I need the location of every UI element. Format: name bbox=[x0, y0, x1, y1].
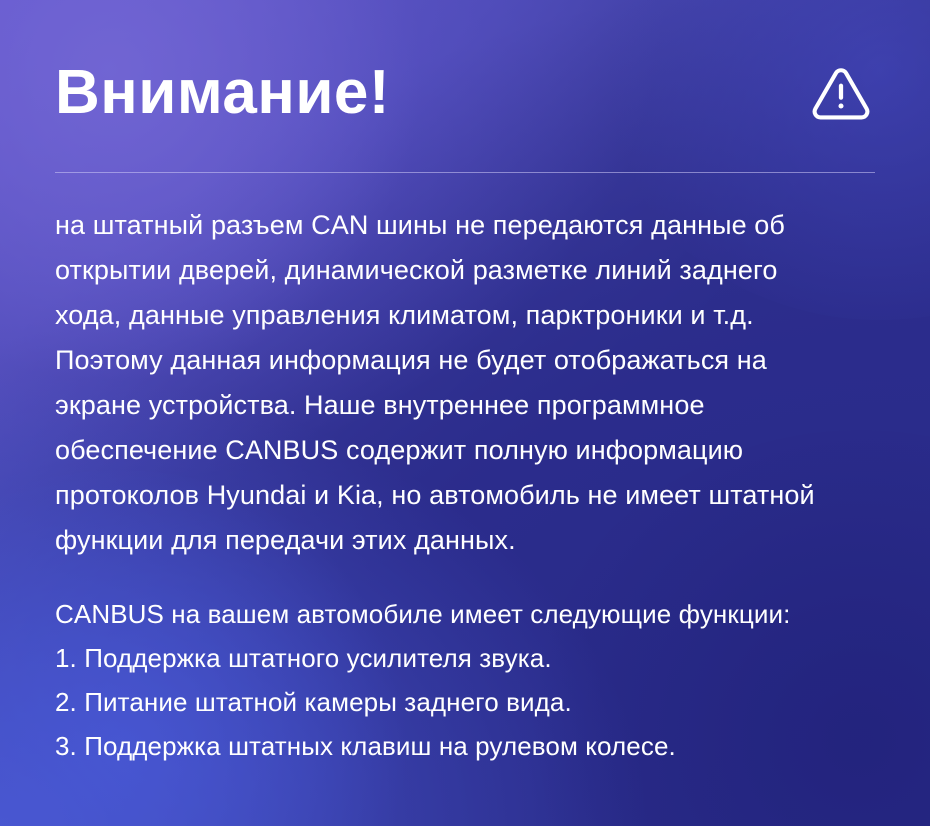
warning-banner: Внимание! на штатный разъем CAN шины не … bbox=[0, 0, 930, 826]
main-paragraph: на штатный разъем CAN шины не передаются… bbox=[55, 173, 875, 563]
paragraph-line: на штатный разъем CAN шины не передаются… bbox=[55, 203, 875, 248]
paragraph-line: открытии дверей, динамической разметке л… bbox=[55, 248, 875, 293]
features-section: CANBUS на вашем автомобиле имеет следующ… bbox=[55, 563, 875, 768]
page-title: Внимание! bbox=[55, 62, 390, 124]
feature-item-1: 1. Поддержка штатного усилителя звука. bbox=[55, 636, 875, 680]
paragraph-line: экране устройства. Наше внутреннее прогр… bbox=[55, 383, 875, 428]
paragraph-line: функции для передачи этих данных. bbox=[55, 518, 875, 563]
feature-item-2: 2. Питание штатной камеры заднего вида. bbox=[55, 680, 875, 724]
banner-content: Внимание! на штатный разъем CAN шины не … bbox=[0, 0, 930, 768]
paragraph-line: хода, данные управления климатом, парктр… bbox=[55, 293, 875, 338]
paragraph-line: протоколов Hyundai и Kia, но автомобиль … bbox=[55, 473, 875, 518]
paragraph-line: Поэтому данная информация не будет отобр… bbox=[55, 338, 875, 383]
features-intro: CANBUS на вашем автомобиле имеет следующ… bbox=[55, 592, 875, 636]
banner-header: Внимание! bbox=[55, 0, 875, 172]
warning-triangle-icon bbox=[810, 63, 872, 125]
paragraph-line: обеспечение CANBUS содержит полную инфор… bbox=[55, 428, 875, 473]
feature-item-3: 3. Поддержка штатных клавиш на рулевом к… bbox=[55, 724, 875, 768]
